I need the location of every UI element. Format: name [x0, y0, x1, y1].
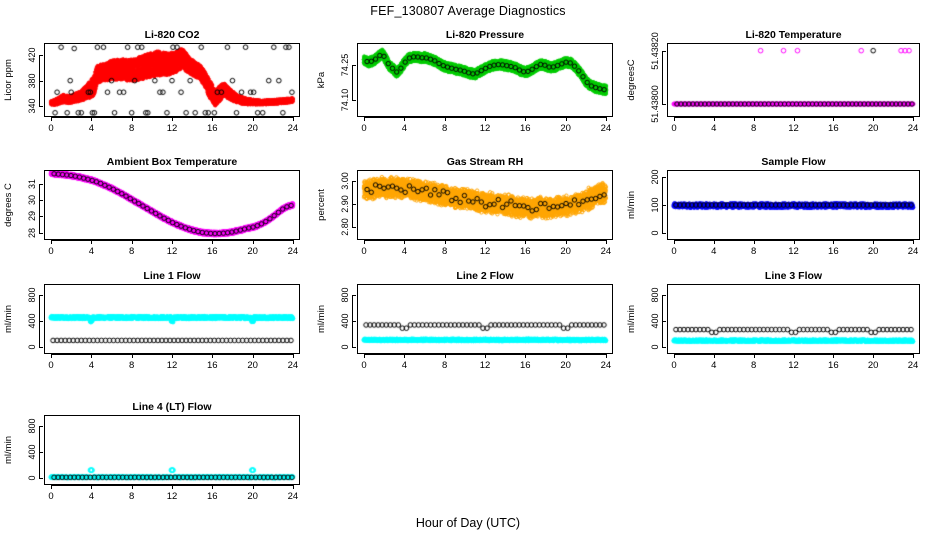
y-tick-label: 800	[27, 419, 37, 434]
x-tick	[293, 485, 294, 489]
plot-area-line-4-lt-flow	[44, 415, 300, 485]
y-axis-line	[39, 426, 40, 478]
x-tick-label: 12	[167, 491, 178, 502]
y-tick-label: 0	[27, 475, 37, 480]
x-tick-label: 16	[207, 491, 218, 502]
x-tick-label: 24	[288, 491, 299, 502]
diagnostics-figure: FEF_130807 Average Diagnostics Hour of D…	[0, 0, 936, 540]
y-axis-label: ml/min	[3, 436, 14, 464]
x-tick-label: 8	[129, 491, 134, 502]
x-tick-label: 4	[89, 491, 94, 502]
y-tick	[39, 478, 43, 479]
panel-line-4-lt-flow: Line 4 (LT) Flow048121620240400800ml/min	[0, 0, 936, 540]
data-layer-line-4-lt-flow	[45, 416, 299, 484]
y-tick-label: 400	[27, 445, 37, 460]
panel-title-line-4-lt-flow: Line 4 (LT) Flow	[4, 401, 340, 413]
x-tick-label: 20	[247, 491, 258, 502]
x-tick-label: 0	[48, 491, 53, 502]
x-axis-line	[51, 485, 293, 486]
